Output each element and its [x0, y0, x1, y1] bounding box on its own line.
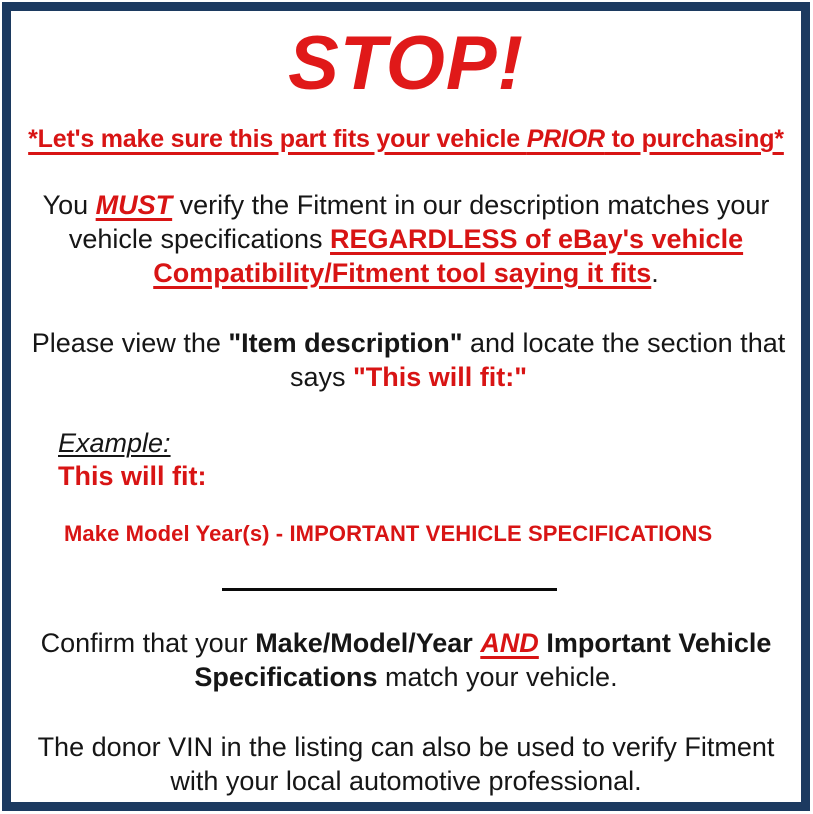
must-paragraph-part1: You: [43, 190, 96, 220]
example-spec-line: Make Model Year(s) - IMPORTANT VEHICLE S…: [58, 493, 786, 547]
donor-vin-paragraph: The donor VIN in the listing can also be…: [21, 694, 791, 798]
confirm-paragraph-part2: match your vehicle.: [377, 662, 617, 692]
view-description-paragraph: Please view the "Item description" and l…: [21, 290, 796, 394]
subtitle-banner: *Let's make sure this part fits your veh…: [21, 103, 791, 155]
example-label: Example:: [58, 428, 171, 459]
must-verify-paragraph: You MUST verify the Fitment in our descr…: [26, 154, 786, 290]
page-title: STOP!: [21, 11, 791, 103]
fitment-notice-frame: STOP! *Let's make sure this part fits yo…: [2, 2, 810, 811]
subtitle-text-before: *Let's make sure this part fits your veh…: [28, 125, 527, 153]
emphasis-must: MUST: [96, 190, 173, 220]
divider-wrap: [21, 547, 791, 596]
view-paragraph-part1: Please view the: [32, 328, 229, 358]
example-label-row: Example:: [58, 428, 786, 459]
subtitle-text-after: to purchasing*: [605, 125, 784, 153]
example-block: Example: This will fit: Make Model Year(…: [26, 394, 786, 547]
horizontal-rule-divider: [222, 588, 557, 591]
fitment-notice-card: STOP! *Let's make sure this part fits yo…: [0, 0, 813, 814]
thank-you-line: Thank you for confirming Fitment!: [21, 798, 791, 811]
must-paragraph-part3: .: [651, 258, 659, 288]
bold-item-description: "Item description": [228, 328, 462, 358]
subtitle-emphasis-prior: PRIOR: [527, 125, 605, 153]
bold-make-model-year: Make/Model/Year: [255, 628, 473, 658]
confirm-paragraph-part1: Confirm that your: [41, 628, 256, 658]
example-fit-heading: This will fit:: [58, 459, 786, 492]
emphasis-and: AND: [480, 628, 539, 658]
confirm-paragraph: Confirm that your Make/Model/Year AND Im…: [26, 596, 786, 694]
red-this-will-fit: "This will fit:": [353, 362, 527, 392]
